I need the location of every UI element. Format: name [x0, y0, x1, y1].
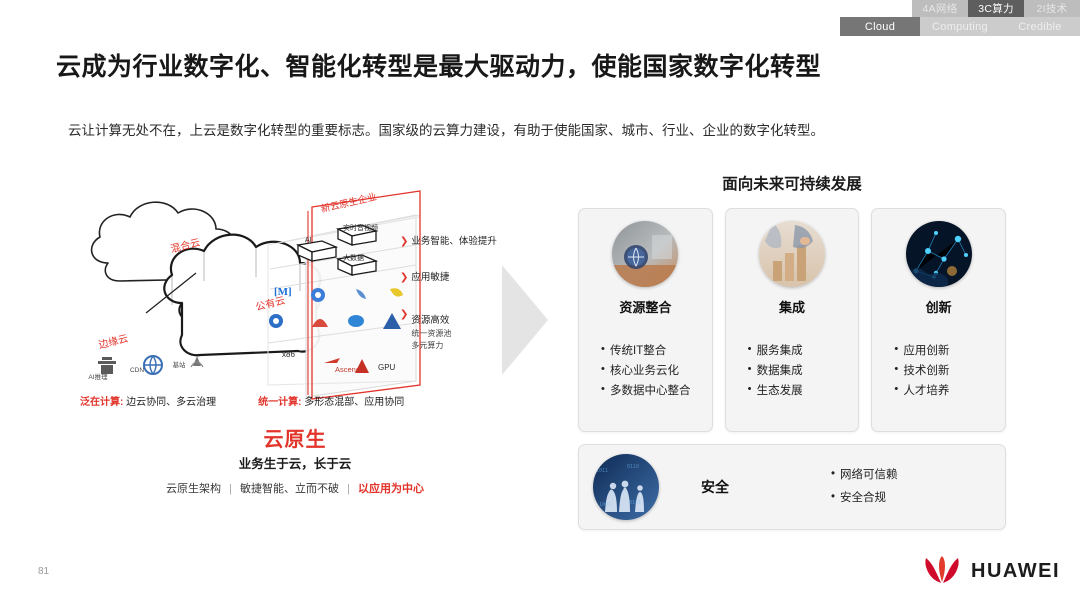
chevron-right-icon: ❯: [400, 237, 408, 247]
card-item: 服务集成: [748, 341, 851, 361]
tab-cloud[interactable]: Cloud: [840, 17, 920, 36]
value-bullet-label: 应用敏捷: [411, 273, 449, 283]
value-bullet-subitem: 统一资源池: [411, 328, 461, 340]
card-item-list: 传统IT整合 核心业务云化 多数据中心整合: [587, 341, 704, 401]
workload-block-realtime: 实时音视频: [343, 223, 378, 233]
huawei-flower-icon: [922, 556, 962, 586]
pillar-card-resource[interactable]: 资源整合 传统IT整合 核心业务云化 多数据中心整合: [578, 208, 713, 432]
card-item: 生态发展: [748, 381, 851, 401]
pillar-card-integration[interactable]: 集成 服务集成 数据集成 生态发展: [725, 208, 860, 432]
pillar-card-security[interactable]: 1011011010010101 安全 网络可信赖 安全合规: [578, 444, 1006, 530]
tab-4a-network[interactable]: 4A网络: [912, 0, 968, 17]
compute-summary-ubiquitous: 泛在计算: 边云协同、多云治理: [80, 393, 216, 408]
cloud-native-subtitle: 业务生于云，长于云: [60, 453, 530, 472]
value-bullet-label: 业务智能、体验提升: [411, 237, 497, 247]
card-title: 资源整合: [619, 297, 671, 316]
value-bullet-label: 资源高效: [411, 315, 449, 326]
card-item: 数据集成: [748, 361, 851, 381]
slide-root: 4A网络 3C算力 2I技术 Cloud Computing Credible …: [0, 0, 1080, 607]
card-item: 人才培养: [894, 381, 997, 401]
tag-divider: |: [229, 483, 232, 495]
pillar-card-row: 资源整合 传统IT整合 核心业务云化 多数据中心整合: [578, 208, 1006, 432]
cdn-icon-label: CDN: [120, 367, 154, 374]
workload-block-ai: AI: [305, 237, 312, 244]
cloud-native-tag: 敏捷智能、立而不破: [240, 483, 339, 495]
svg-text:0101: 0101: [629, 500, 641, 506]
card-item-list: 应用创新 技术创新 人才培养: [880, 341, 997, 401]
huawei-wordmark: HUAWEI: [971, 560, 1060, 583]
page-subtitle: 云让计算无处不在，上云是数字化转型的重要标志。国家级的云算力建设，有助于使能国家…: [68, 119, 1018, 139]
cloud-native-tags: 云原生架构 | 敏捷智能、立而不破 | 以应用为中心: [60, 480, 530, 496]
summary-key: 统一计算:: [258, 397, 301, 408]
page-number: 81: [38, 566, 49, 577]
tab-computing[interactable]: Computing: [920, 17, 1000, 36]
base-station-icon-label: 基站: [162, 359, 196, 369]
card-item: 网络可信赖: [831, 464, 898, 487]
future-development-panel: 面向未来可持续发展: [578, 172, 1006, 530]
card-item: 多数据中心整合: [601, 381, 704, 401]
chevron-right-icon: ❯: [400, 273, 408, 283]
card-title: 集成: [779, 297, 805, 316]
card-item-list: 网络可信赖 安全合规: [791, 464, 898, 510]
transition-arrow-icon: [500, 265, 560, 375]
value-bullet-subitem: 多元算力: [411, 340, 461, 352]
value-bullet-item: ❯ 业务智能、体验提升: [400, 237, 530, 247]
compute-summary-unified: 统一计算: 多形态混部、应用协同: [258, 393, 404, 408]
svg-text:1011: 1011: [596, 468, 608, 474]
card-item: 应用创新: [894, 341, 997, 361]
tab-credible[interactable]: Credible: [1000, 17, 1080, 36]
chevron-right-icon: ❯: [400, 310, 408, 320]
workload-block-bigdata: 大数据: [343, 253, 364, 263]
resource-photo: [612, 221, 678, 287]
summary-value: 多形态混部、应用协同: [304, 397, 404, 408]
tabbar-primary: 4A网络 3C算力 2I技术: [912, 0, 1080, 17]
card-item: 技术创新: [894, 361, 997, 381]
pillar-card-innovation[interactable]: 创新 应用创新 技术创新 人才培养: [871, 208, 1006, 432]
cloud-architecture-illustration: [M] 混合云 公有云 边缘云 新云原生企业: [60, 185, 530, 505]
ai-inference-icon-label: AI推理: [78, 371, 118, 381]
tag-divider: |: [347, 483, 350, 495]
tabbar-secondary: Cloud Computing Credible: [840, 17, 1080, 36]
value-bullet-sublist: 统一资源池 多元算力: [411, 328, 461, 352]
card-item-list: 服务集成 数据集成 生态发展: [734, 341, 851, 401]
summary-value: 边云协同、多云治理: [126, 397, 216, 408]
cloud-native-tag-highlight: 以应用为中心: [358, 483, 424, 495]
page-title: 云成为行业数字化、智能化转型是最大驱动力，使能国家数字化转型: [56, 47, 986, 83]
security-photo: 1011011010010101: [593, 454, 659, 520]
compute-label-ascend: Ascend: [335, 365, 360, 374]
card-title: 创新: [926, 297, 952, 316]
card-title: 安全: [701, 477, 729, 497]
innovation-photo: [906, 221, 972, 287]
card-item: 安全合规: [831, 487, 898, 510]
card-item: 核心业务云化: [601, 361, 704, 381]
huawei-logo: HUAWEI: [922, 556, 1060, 586]
panel-title: 面向未来可持续发展: [578, 172, 1006, 194]
compute-summary-row: 泛在计算: 边云协同、多云治理 统一计算: 多形态混部、应用协同: [80, 393, 530, 408]
compute-label-x86: x86: [282, 350, 295, 359]
cloud-native-tag: 云原生架构: [166, 483, 221, 495]
compute-label-gpu: GPU: [378, 363, 395, 372]
cloud-native-title: 云原生: [60, 423, 530, 452]
svg-text:0110: 0110: [627, 464, 639, 470]
tab-2i-technology[interactable]: 2I技术: [1024, 0, 1080, 17]
summary-key: 泛在计算:: [80, 397, 123, 408]
svg-text:1001: 1001: [599, 502, 611, 508]
tab-3c-computing[interactable]: 3C算力: [968, 0, 1024, 17]
integration-photo: [759, 221, 825, 287]
card-item: 传统IT整合: [601, 341, 704, 361]
